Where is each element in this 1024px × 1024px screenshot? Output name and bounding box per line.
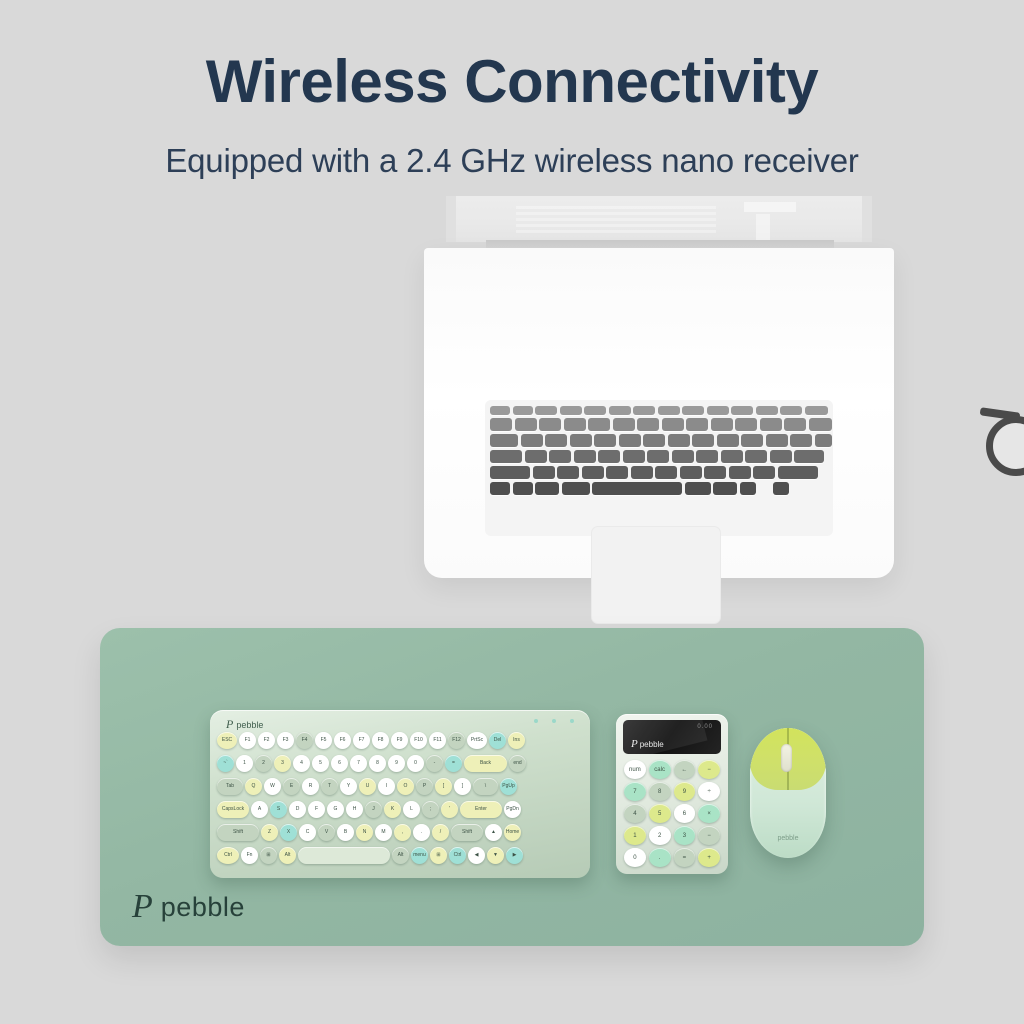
numpad-key[interactable]: 3 <box>674 826 696 845</box>
keyboard-key[interactable]: ▲ <box>485 824 502 841</box>
numpad-key[interactable]: − <box>698 760 720 779</box>
laptop-key[interactable] <box>588 418 610 431</box>
laptop-key[interactable] <box>606 466 628 479</box>
laptop-key[interactable] <box>513 406 533 415</box>
keyboard-key[interactable] <box>298 847 390 864</box>
keyboard-row: CtrlFn⊞AltAltmenu⊞Ctrl◀▼▶ <box>217 847 523 864</box>
screen-reflection-block <box>756 214 770 240</box>
numpad-key[interactable]: = <box>674 848 696 867</box>
keyboard-row: TabQWERTYUIOP[]\PgUp <box>217 778 517 795</box>
laptop-key[interactable] <box>490 450 522 463</box>
keyboard-key[interactable]: PgDn <box>504 801 521 818</box>
numpad-key[interactable]: . <box>649 848 671 867</box>
laptop-base <box>424 248 894 578</box>
numpad-key[interactable]: 1 <box>624 826 646 845</box>
numpad-key[interactable]: 0 <box>624 848 646 867</box>
laptop-key-row <box>490 482 789 495</box>
keyboard-key[interactable]: H <box>346 801 363 818</box>
keyboard-key[interactable]: ; <box>422 801 439 818</box>
laptop-key[interactable] <box>490 482 510 495</box>
keyboard-key[interactable]: end <box>509 755 526 772</box>
laptop-key[interactable] <box>773 482 789 495</box>
laptop-key[interactable] <box>560 406 582 415</box>
laptop-key[interactable] <box>745 450 767 463</box>
laptop-key[interactable] <box>490 434 518 447</box>
keyboard-key[interactable]: Q <box>245 778 262 795</box>
laptop-key[interactable] <box>707 406 729 415</box>
laptop-key[interactable] <box>662 418 684 431</box>
laptop-key[interactable] <box>805 406 828 415</box>
keyboard-key[interactable]: 9 <box>388 755 405 772</box>
numpad-key[interactable]: 9 <box>674 782 696 801</box>
keyboard-key[interactable]: 6 <box>331 755 348 772</box>
keyboard-key[interactable]: ~` <box>217 755 234 772</box>
laptop-key[interactable] <box>613 418 635 431</box>
numpad-key[interactable]: num <box>624 760 646 779</box>
laptop-key[interactable] <box>584 406 606 415</box>
screen-reflection <box>516 206 716 234</box>
keyboard-key[interactable]: F3 <box>277 732 294 749</box>
keyboard-key[interactable]: F1 <box>239 732 256 749</box>
laptop-key[interactable] <box>692 434 714 447</box>
keyboard-key[interactable]: . <box>413 824 430 841</box>
laptop-key[interactable] <box>696 450 718 463</box>
wireless-mouse[interactable]: pebble <box>750 728 826 858</box>
laptop-key[interactable] <box>668 434 690 447</box>
laptop-key-row <box>490 418 832 431</box>
laptop-key[interactable] <box>631 466 653 479</box>
keyboard-key[interactable]: Fn <box>241 847 258 864</box>
keyboard-logo-text: pebble <box>236 720 263 730</box>
keyboard-key[interactable]: C <box>299 824 316 841</box>
pebble-monogram-icon: P <box>132 890 153 924</box>
laptop-key[interactable] <box>790 434 812 447</box>
numpad-key[interactable]: 4 <box>624 804 646 823</box>
keyboard-key[interactable]: ▶ <box>506 847 523 864</box>
keyboard-key[interactable]: Enter <box>460 801 502 818</box>
laptop-key[interactable] <box>513 482 533 495</box>
numpad-logo: P pebble <box>631 738 664 750</box>
keyboard-key[interactable]: X <box>280 824 297 841</box>
laptop-key[interactable] <box>521 434 543 447</box>
keyboard-key[interactable]: 7 <box>350 755 367 772</box>
laptop-key[interactable] <box>609 406 631 415</box>
keyboard-key[interactable]: F7 <box>353 732 370 749</box>
laptop-key[interactable] <box>766 434 788 447</box>
keyboard-key[interactable]: ' <box>441 801 458 818</box>
laptop-key-row <box>490 466 818 479</box>
keyboard-key[interactable]: Ins <box>508 732 525 749</box>
laptop-key[interactable] <box>682 406 704 415</box>
keyboard-key[interactable]: F6 <box>334 732 351 749</box>
keyboard-key[interactable]: U <box>359 778 376 795</box>
laptop-key[interactable] <box>770 450 792 463</box>
keyboard-row: CapsLockASDFGHJKL;'EnterPgDn <box>217 801 521 818</box>
keyboard-key[interactable]: F2 <box>258 732 275 749</box>
laptop-key[interactable] <box>570 434 592 447</box>
laptop-key[interactable] <box>594 434 616 447</box>
laptop-key[interactable] <box>535 406 557 415</box>
keyboard-key[interactable]: S <box>270 801 287 818</box>
keyboard-key[interactable]: O <box>397 778 414 795</box>
eyeglasses-icon <box>980 398 1024 484</box>
numpad-key[interactable]: ÷ <box>698 782 720 801</box>
keyboard-key[interactable]: L <box>403 801 420 818</box>
laptop-key-row <box>490 406 828 415</box>
wireless-numpad[interactable]: 0.00 P pebble numcalc←−789÷456×123−0.=+ <box>616 714 728 874</box>
laptop-key[interactable] <box>592 482 682 495</box>
laptop-computer <box>424 196 894 584</box>
numpad-key[interactable]: × <box>698 804 720 823</box>
laptop-key[interactable] <box>729 466 751 479</box>
laptop-key[interactable] <box>809 418 832 431</box>
screen-reflection-bar <box>744 202 796 212</box>
glasses-lens <box>986 416 1024 476</box>
keyboard-led-indicators <box>534 719 574 723</box>
laptop-key-row <box>490 450 824 463</box>
led-icon <box>534 719 538 723</box>
keyboard-key[interactable]: ESC <box>217 732 237 749</box>
keyboard-key[interactable]: J <box>365 801 382 818</box>
laptop-key[interactable] <box>619 434 641 447</box>
keyboard-key[interactable]: Home <box>504 824 521 841</box>
keyboard-key[interactable]: P <box>416 778 433 795</box>
led-icon <box>552 719 556 723</box>
laptop-key[interactable] <box>658 406 680 415</box>
keyboard-key[interactable]: PgUp <box>500 778 517 795</box>
keyboard-key[interactable]: K <box>384 801 401 818</box>
laptop-key[interactable] <box>637 418 659 431</box>
laptop-key[interactable] <box>643 434 665 447</box>
laptop-key[interactable] <box>545 434 567 447</box>
laptop-key[interactable] <box>490 418 512 431</box>
keyboard-key[interactable]: 2 <box>255 755 272 772</box>
keyboard-key[interactable]: Z <box>261 824 278 841</box>
keyboard-key[interactable]: F12 <box>448 732 465 749</box>
laptop-key[interactable] <box>760 418 782 431</box>
keyboard-key[interactable]: Del <box>489 732 506 749</box>
laptop-key[interactable] <box>490 466 530 479</box>
keyboard-key[interactable]: Back <box>464 755 507 772</box>
page-title: Wireless Connectivity <box>0 50 1024 113</box>
laptop-key[interactable] <box>533 466 555 479</box>
keyboard-key[interactable]: = <box>445 755 462 772</box>
keyboard-key[interactable]: A <box>251 801 268 818</box>
keyboard-key[interactable]: 1 <box>236 755 253 772</box>
numpad-key[interactable]: − <box>698 826 720 845</box>
laptop-key[interactable] <box>647 450 669 463</box>
laptop-key[interactable] <box>655 466 677 479</box>
keyboard-key[interactable]: Tab <box>217 778 243 795</box>
keyboard-key[interactable]: F <box>308 801 325 818</box>
laptop-key[interactable] <box>539 418 561 431</box>
keyboard-key[interactable]: CapsLock <box>217 801 249 818</box>
keyboard-key[interactable]: F10 <box>410 732 427 749</box>
laptop-key[interactable] <box>623 450 645 463</box>
laptop-key[interactable] <box>680 466 702 479</box>
keyboard-key[interactable]: M <box>375 824 392 841</box>
laptop-key[interactable] <box>740 482 756 495</box>
trackpad[interactable] <box>591 526 721 624</box>
numpad-key[interactable]: 8 <box>649 782 671 801</box>
laptop-key[interactable] <box>784 418 806 431</box>
laptop-key[interactable] <box>525 450 547 463</box>
numpad-key[interactable]: + <box>698 848 720 867</box>
desk-mat: P pebble P pebble ESCF1F2F3F4F5F6F7F8F9F… <box>100 628 924 946</box>
numpad-key[interactable]: ← <box>674 760 696 779</box>
laptop-key[interactable] <box>633 406 655 415</box>
keyboard-key[interactable]: 8 <box>369 755 386 772</box>
laptop-key[interactable] <box>780 406 802 415</box>
keyboard-key[interactable]: Shift <box>217 824 259 841</box>
laptop-key[interactable] <box>713 482 737 495</box>
page-subtitle: Equipped with a 2.4 GHz wireless nano re… <box>0 142 1024 180</box>
keyboard-key[interactable]: ⊞ <box>260 847 277 864</box>
keyboard-row: ESCF1F2F3F4F5F6F7F8F9F10F11F12PrtScDelIn… <box>217 732 525 749</box>
keyboard-key[interactable]: N <box>356 824 373 841</box>
keyboard-key[interactable]: D <box>289 801 306 818</box>
laptop-key[interactable] <box>672 450 694 463</box>
laptop-key[interactable] <box>815 434 832 447</box>
desk-mat-logo: P pebble <box>132 890 245 924</box>
pebble-monogram-icon: P <box>631 738 638 750</box>
keyboard-key[interactable]: PrtSc <box>467 732 487 749</box>
laptop-key[interactable] <box>721 450 743 463</box>
keyboard-key[interactable]: T <box>321 778 338 795</box>
keyboard-row: ~`1234567890-=Backend <box>217 755 526 772</box>
numpad-key[interactable]: 7 <box>624 782 646 801</box>
laptop-key[interactable] <box>778 466 818 479</box>
laptop-key[interactable] <box>549 450 571 463</box>
keyboard-key[interactable]: ⊞ <box>430 847 447 864</box>
keyboard-key[interactable]: Alt <box>392 847 409 864</box>
numpad-display: 0.00 P pebble <box>623 720 721 754</box>
keyboard-key[interactable]: ] <box>454 778 471 795</box>
keyboard-key[interactable]: 4 <box>293 755 310 772</box>
led-icon <box>570 719 574 723</box>
keyboard-key[interactable]: Shift <box>451 824 483 841</box>
numpad-display-value: 0.00 <box>697 724 713 730</box>
laptop-key[interactable] <box>582 466 604 479</box>
keyboard-key[interactable]: , <box>394 824 411 841</box>
keyboard-key[interactable]: ◀ <box>468 847 485 864</box>
keyboard-key[interactable]: I <box>378 778 395 795</box>
keyboard-key[interactable]: / <box>432 824 449 841</box>
keyboard-key[interactable]: V <box>318 824 335 841</box>
laptop-key[interactable] <box>753 466 775 479</box>
laptop-key[interactable] <box>564 418 586 431</box>
keyboard-key[interactable]: Ctrl <box>449 847 466 864</box>
keyboard-key[interactable]: Y <box>340 778 357 795</box>
laptop-key[interactable] <box>535 482 559 495</box>
laptop-key[interactable] <box>686 418 708 431</box>
laptop-key[interactable] <box>574 450 596 463</box>
keyboard-key[interactable]: W <box>264 778 281 795</box>
laptop-lid <box>446 196 872 242</box>
keyboard-key[interactable]: G <box>327 801 344 818</box>
laptop-key[interactable] <box>562 482 590 495</box>
keyboard-key[interactable]: E <box>283 778 300 795</box>
keyboard-key[interactable]: \ <box>473 778 498 795</box>
keyboard-key[interactable]: F5 <box>315 732 332 749</box>
laptop-key[interactable] <box>711 418 733 431</box>
laptop-key[interactable] <box>704 466 726 479</box>
keyboard-key[interactable]: 5 <box>312 755 329 772</box>
keyboard-key[interactable]: F9 <box>391 732 408 749</box>
keyboard-key[interactable]: [ <box>435 778 452 795</box>
keyboard-key[interactable]: 0 <box>407 755 424 772</box>
keyboard-key[interactable]: ▼ <box>487 847 504 864</box>
laptop-key[interactable] <box>731 406 753 415</box>
keyboard-key[interactable]: F8 <box>372 732 389 749</box>
laptop-key[interactable] <box>794 450 824 463</box>
keyboard-key[interactable]: Alt <box>279 847 296 864</box>
keyboard-key[interactable]: 3 <box>274 755 291 772</box>
keyboard-logo: P pebble <box>226 717 263 732</box>
laptop-screen <box>456 196 862 242</box>
laptop-key[interactable] <box>515 418 537 431</box>
laptop-key[interactable] <box>756 406 778 415</box>
laptop-key[interactable] <box>735 418 757 431</box>
keyboard-row: ShiftZXCVBNM,./Shift▲Home <box>217 824 521 841</box>
keyboard-key[interactable]: Ctrl <box>217 847 239 864</box>
wireless-keyboard[interactable]: P pebble ESCF1F2F3F4F5F6F7F8F9F10F11F12P… <box>210 710 590 878</box>
keyboard-key[interactable]: R <box>302 778 319 795</box>
numpad-key[interactable]: calc <box>649 760 671 779</box>
numpad-logo-text: pebble <box>640 740 664 749</box>
numpad-key[interactable]: 2 <box>649 826 671 845</box>
laptop-key[interactable] <box>717 434 739 447</box>
desk-mat-logo-text: pebble <box>161 892 245 923</box>
laptop-key[interactable] <box>490 406 510 415</box>
laptop-keyboard <box>485 400 833 536</box>
keyboard-key[interactable]: F4 <box>296 732 313 749</box>
numpad-key[interactable]: 6 <box>674 804 696 823</box>
laptop-key-row <box>490 434 832 447</box>
keyboard-key[interactable]: F11 <box>429 732 446 749</box>
laptop-key[interactable] <box>685 482 711 495</box>
laptop-key[interactable] <box>741 434 763 447</box>
keyboard-key[interactable]: menu <box>411 847 428 864</box>
mouse-scroll-wheel[interactable] <box>781 744 792 772</box>
keyboard-key[interactable]: B <box>337 824 354 841</box>
pebble-monogram-icon: P <box>226 717 233 732</box>
numpad-key[interactable]: 5 <box>649 804 671 823</box>
laptop-key[interactable] <box>598 450 620 463</box>
mouse-logo-text: pebble <box>750 835 826 842</box>
keyboard-key[interactable]: - <box>426 755 443 772</box>
laptop-key[interactable] <box>557 466 579 479</box>
